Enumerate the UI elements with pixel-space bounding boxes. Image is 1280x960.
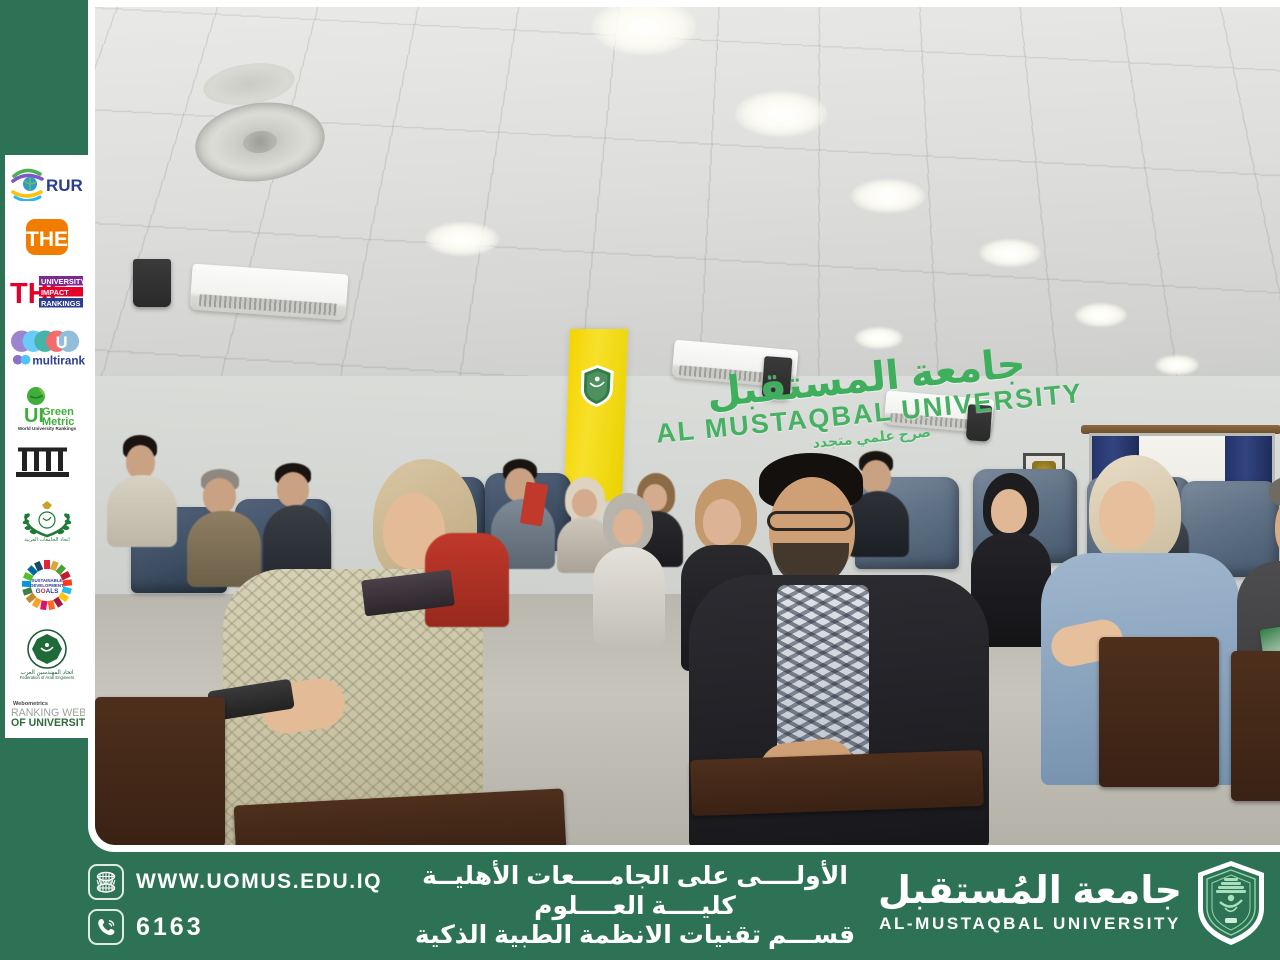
- torso: [107, 475, 177, 547]
- svg-text:WWW: WWW: [97, 879, 116, 886]
- ranking-logo-multirank: U multirank: [9, 327, 85, 369]
- contact-info: WWW WWW.UOMUS.EDU.IQ 6163: [88, 864, 382, 945]
- svg-text:IMPACT: IMPACT: [41, 288, 69, 297]
- eyeglasses-icon: [767, 511, 853, 531]
- ranking-logo-the-impact: THE UNIVERSITY IMPACT RANKINGS: [9, 273, 85, 311]
- svg-text:U: U: [56, 333, 68, 352]
- hair: [1269, 473, 1280, 507]
- armrest-desk: [95, 697, 225, 845]
- svg-text:World University Rankings: World University Rankings: [18, 426, 77, 431]
- phone-number: 6163: [136, 913, 204, 942]
- head: [1099, 481, 1155, 549]
- svg-text:RUR: RUR: [46, 176, 83, 195]
- footer-line-2: كليــــة العــــلوم: [400, 892, 870, 922]
- website-row[interactable]: WWW WWW.UOMUS.EDU.IQ: [88, 864, 382, 900]
- rur-icon: RUR: [10, 167, 84, 201]
- ranking-logo-the: THE: [9, 217, 85, 257]
- ranking-logo-aaru: اتحاد الجامعات العربية: [9, 498, 85, 542]
- university-brand: جامعة المُستقبل AL-MUSTAQBAL UNIVERSITY: [878, 858, 1270, 948]
- university-crest-icon: [576, 363, 618, 409]
- webometrics-icon: Webometrics RANKING WEB OF UNIVERSITIES: [9, 696, 85, 728]
- ceiling-light: [851, 179, 925, 213]
- armrest-desk: [690, 750, 984, 816]
- footer-arabic-lines: الأولــــى على الجامــــعات الأهليــة كل…: [400, 862, 870, 951]
- svg-text:THE: THE: [26, 228, 68, 251]
- svg-text:multirank: multirank: [32, 354, 85, 367]
- ceiling-light: [1155, 355, 1199, 375]
- aaru-icon: اتحاد الجامعات العربية: [12, 498, 82, 542]
- brand-wordmark: جامعة المُستقبل AL-MUSTAQBAL UNIVERSITY: [878, 872, 1182, 934]
- the-icon: THE: [24, 217, 70, 257]
- wall-speaker: [133, 259, 171, 307]
- svg-text:OF UNIVERSITIES: OF UNIVERSITIES: [11, 717, 85, 728]
- svg-text:RANKINGS: RANKINGS: [41, 299, 80, 308]
- ranking-logo-rur: RUR: [9, 167, 85, 201]
- lecture-hall-photo: جامعة المستقبل AL MUSTAQBAL UNIVERSITY ص…: [95, 7, 1280, 845]
- torso: [593, 547, 665, 645]
- head: [613, 509, 643, 545]
- rankings-sidebar: RUR THE THE UNIVERSITY IMPACT RANKINGS: [5, 155, 89, 738]
- university-shield-crest: [1192, 858, 1270, 948]
- ranking-logo-ui-greenmetric: UI Green Metric World University Ranking…: [9, 385, 85, 431]
- website-url: WWW.UOMUS.EDU.IQ: [136, 870, 382, 894]
- the-impact-rankings-icon: THE UNIVERSITY IMPACT RANKINGS: [9, 273, 85, 311]
- qs-icon: [16, 446, 78, 482]
- ceiling-light: [855, 327, 903, 349]
- svg-text:UI: UI: [24, 405, 44, 427]
- svg-text:اتحاد الجامعات العربية: اتحاد الجامعات العربية: [24, 537, 70, 542]
- phone-icon: [88, 909, 124, 945]
- yellow-wall-banner: [564, 329, 628, 501]
- svg-text:UNIVERSITY: UNIVERSITY: [41, 277, 85, 286]
- federation-arab-engineers-icon: اتحاد المهندسين العرب Federation of Arab…: [12, 628, 82, 680]
- footer-line-3: قســـم تقنيات الانظمة الطبية الذكية: [400, 921, 870, 951]
- ceiling-light: [735, 91, 827, 137]
- armrest-desk: [1231, 651, 1280, 801]
- armrest-desk: [1099, 637, 1219, 787]
- brand-english: AL-MUSTAQBAL UNIVERSITY: [878, 914, 1182, 934]
- audience-member: [593, 493, 667, 643]
- ui-greenmetric-icon: UI Green Metric World University Ranking…: [10, 385, 84, 431]
- footer-line-1: الأولــــى على الجامــــعات الأهليــة: [400, 862, 870, 892]
- ceiling-light: [1075, 303, 1127, 327]
- globe-www-icon: WWW: [88, 864, 124, 900]
- poster-card: RUR THE THE UNIVERSITY IMPACT RANKINGS: [0, 0, 1280, 960]
- ceiling-light: [979, 239, 1041, 267]
- photo-frame: جامعة المستقبل AL MUSTAQBAL UNIVERSITY ص…: [88, 0, 1280, 852]
- phone-row[interactable]: 6163: [88, 909, 382, 945]
- multirank-icon: U multirank: [9, 327, 85, 369]
- svg-text:Federation of Arab Engineers: Federation of Arab Engineers: [20, 675, 74, 680]
- head: [126, 445, 155, 479]
- sdg-wheel-icon: SUSTAINABLE DEVELOPMENT GOALS: [19, 558, 75, 612]
- ceiling-light: [425, 222, 499, 256]
- ranking-logo-federation-arab-engineers: اتحاد المهندسين العرب Federation of Arab…: [9, 628, 85, 680]
- footer-bar: WWW WWW.UOMUS.EDU.IQ 6163 الأولــــى على…: [0, 850, 1280, 960]
- brand-arabic: جامعة المُستقبل: [878, 872, 1182, 910]
- audience-member: [107, 435, 179, 545]
- ranking-logo-sdg: SUSTAINABLE DEVELOPMENT GOALS: [9, 558, 85, 612]
- ranking-logo-webometrics: Webometrics RANKING WEB OF UNIVERSITIES: [9, 696, 85, 728]
- ranking-logo-qs: [9, 446, 85, 482]
- head: [991, 489, 1027, 533]
- svg-text:GOALS: GOALS: [36, 588, 59, 595]
